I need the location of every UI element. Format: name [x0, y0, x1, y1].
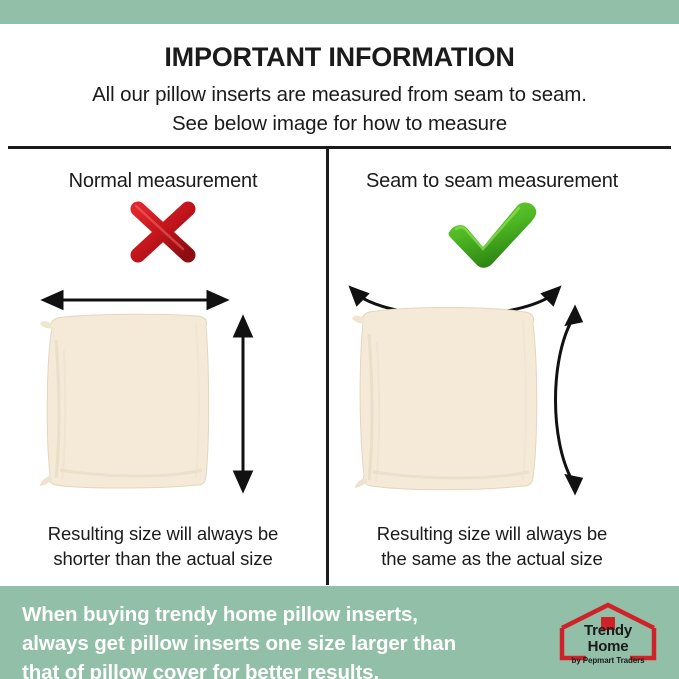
pillow-illustration — [352, 308, 537, 490]
page-title: IMPORTANT INFORMATION — [0, 24, 679, 73]
banner-message: When buying trendy home pillow inserts, … — [22, 600, 522, 679]
banner-line-1: When buying trendy home pillow inserts, — [22, 600, 522, 629]
column-title-seam-to-seam: Seam to seam measurement — [329, 170, 655, 193]
banner-line-2: always get pillow inserts one size large… — [22, 629, 522, 658]
column-title-normal: Normal measurement — [0, 170, 326, 193]
pillow-illustration — [40, 314, 209, 488]
column-seam-to-seam-measurement: Seam to seam measurement — [329, 150, 655, 586]
infographic-page: IMPORTANT INFORMATION All our pillow ins… — [0, 0, 679, 679]
figure-normal-measurement — [0, 280, 326, 510]
caption-seam-line-2: the same as the actual size — [329, 547, 655, 572]
column-caption-seam-to-seam: Resulting size will always be the same a… — [329, 522, 655, 572]
header-subtitle-line-2: See below image for how to measure — [0, 108, 679, 137]
house-outline-icon — [562, 605, 654, 658]
check-mark-icon — [442, 200, 542, 270]
caption-normal-line-1: Resulting size will always be — [0, 522, 326, 547]
top-green-band — [0, 0, 679, 24]
banner-line-3: that of pillow cover for better results. — [22, 658, 522, 679]
caption-normal-line-2: shorter than the actual size — [0, 547, 326, 572]
horizontal-divider — [8, 146, 671, 149]
height-arrow-straight — [235, 318, 251, 490]
column-caption-normal: Resulting size will always be shorter th… — [0, 522, 326, 572]
header-subtitle-line-1: All our pillow inserts are measured from… — [0, 73, 679, 108]
figure-seam-to-seam-measurement — [329, 280, 655, 510]
height-arrow-curved — [556, 308, 582, 492]
cross-mark-icon — [127, 200, 199, 264]
brand-logo: Trendy Home by Pepmart Traders — [556, 601, 660, 669]
column-normal-measurement: Normal measurement — [0, 150, 326, 586]
chimney-square-icon — [601, 617, 615, 630]
caption-seam-line-1: Resulting size will always be — [329, 522, 655, 547]
width-arrow-straight — [44, 292, 226, 308]
header: IMPORTANT INFORMATION All our pillow ins… — [0, 24, 679, 146]
